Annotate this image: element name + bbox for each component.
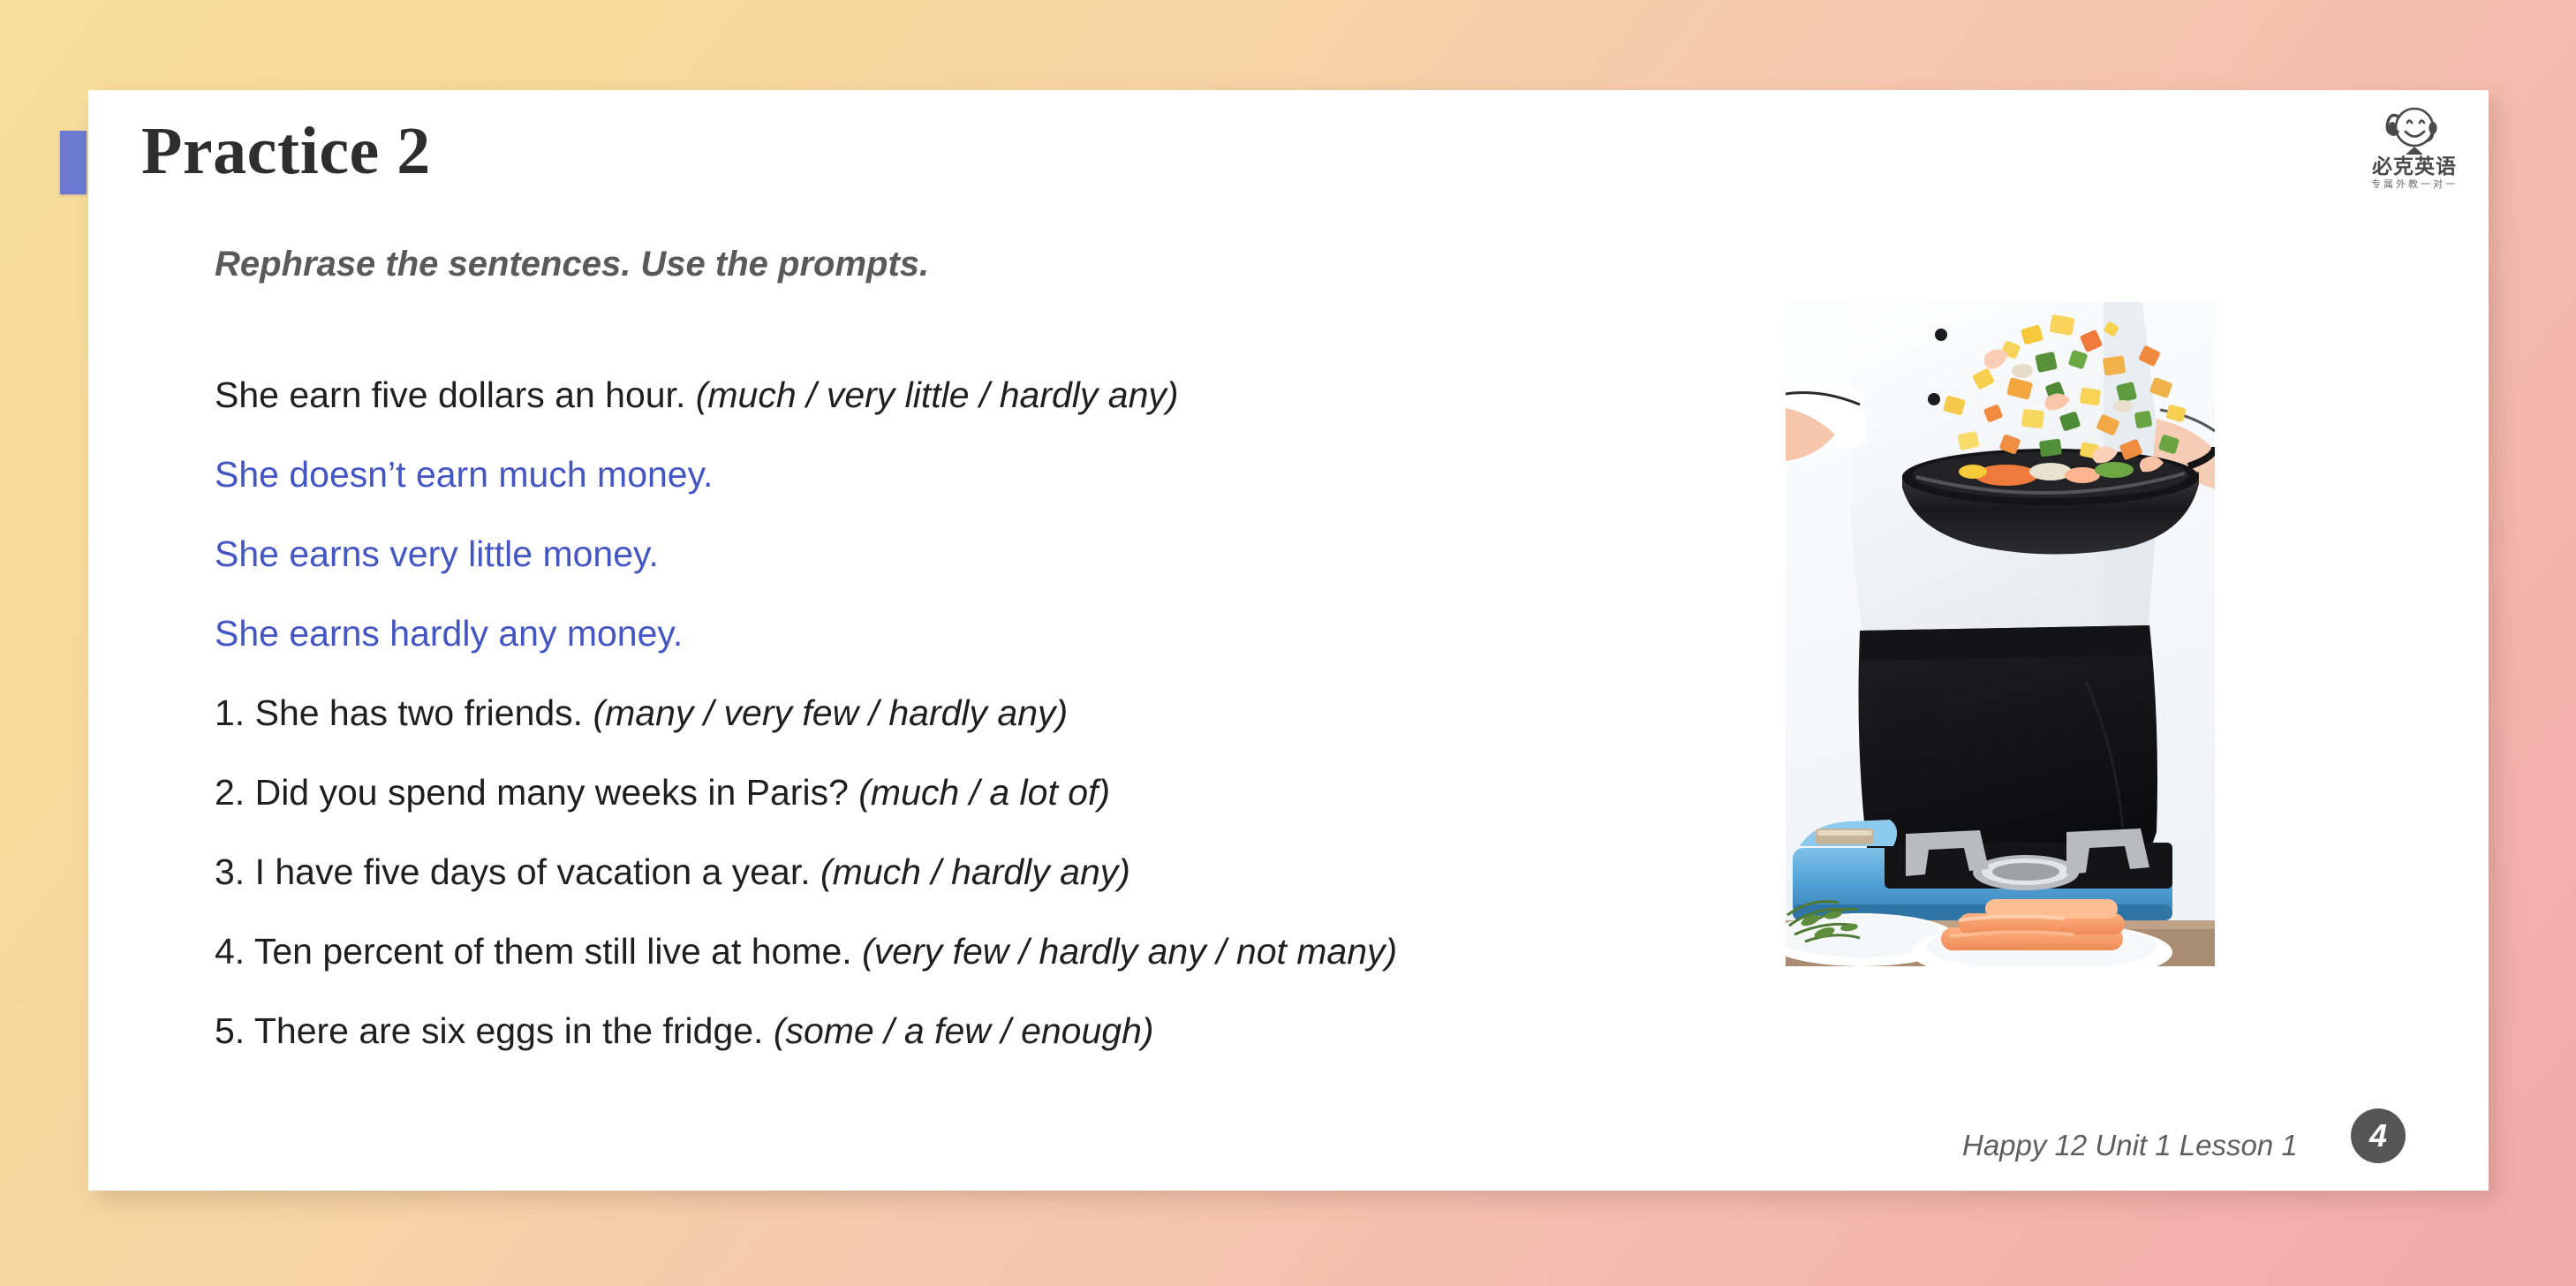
brand-tagline: 专属外教一对一 <box>2353 178 2476 191</box>
cooking-photo <box>1786 302 2215 966</box>
exercise-item-prompt: (some / a few / enough) <box>774 1010 1154 1051</box>
exercise-item-prompt: (many / very few / hardly any) <box>593 692 1068 733</box>
exercise-item-number: 3. <box>215 851 245 892</box>
exercise-item: 4. Ten percent of them still live at hom… <box>215 912 1769 991</box>
exercise-item-prompt: (much / a lot of) <box>858 772 1110 813</box>
title-accent-bar <box>60 131 87 194</box>
instruction-text: Rephrase the sentences. Use the prompts. <box>215 245 929 284</box>
example-sentence-text: She earn five dollars an hour. <box>215 374 696 415</box>
smiley-headset-icon <box>2353 104 2476 155</box>
exercise-item: 2. Did you spend many weeks in Paris? (m… <box>215 753 1769 832</box>
answer-line: She earns very little money. <box>215 514 1769 594</box>
exercise-item: 1. She has two friends. (many / very few… <box>215 673 1769 753</box>
footer-lesson-label: Happy 12 Unit 1 Lesson 1 <box>1962 1129 2298 1162</box>
exercise-item-number: 4. <box>215 931 245 972</box>
answer-line: She earns hardly any money. <box>215 594 1769 673</box>
exercise-item-text: Did you spend many weeks in Paris? <box>245 772 858 813</box>
exercise-item: 5. There are six eggs in the fridge. (so… <box>215 991 1769 1070</box>
cooking-photo-illustration <box>1786 302 2215 966</box>
exercise-item-text: There are six eggs in the fridge. <box>245 1010 774 1051</box>
answer-line: She doesn’t earn much money. <box>215 435 1769 514</box>
example-sentence: She earn five dollars an hour. (much / v… <box>215 355 1769 435</box>
exercise-item-prompt: (much / hardly any) <box>820 851 1130 892</box>
exercise-item-number: 2. <box>215 772 245 813</box>
exercise-item-number: 5. <box>215 1010 245 1051</box>
exercise-item-text: She has two friends. <box>245 692 593 733</box>
exercise-item-prompt: (very few / hardly any / not many) <box>862 931 1397 972</box>
exercise-item-text: I have five days of vacation a year. <box>245 851 820 892</box>
page-number-badge: 4 <box>2351 1108 2406 1163</box>
exercise-item-text: Ten percent of them still live at home. <box>245 931 862 972</box>
exercise-item: 3. I have five days of vacation a year. … <box>215 832 1769 912</box>
brand-name: 必克英语 <box>2353 155 2476 178</box>
brand-logo: 必克英语 专属外教一对一 <box>2353 104 2476 203</box>
exercise-item-number: 1. <box>215 692 245 733</box>
example-sentence-prompt: (much / very little / hardly any) <box>696 374 1179 415</box>
page-title: Practice 2 <box>141 113 431 190</box>
exercise-lines: She earn five dollars an hour. (much / v… <box>215 355 1769 1070</box>
